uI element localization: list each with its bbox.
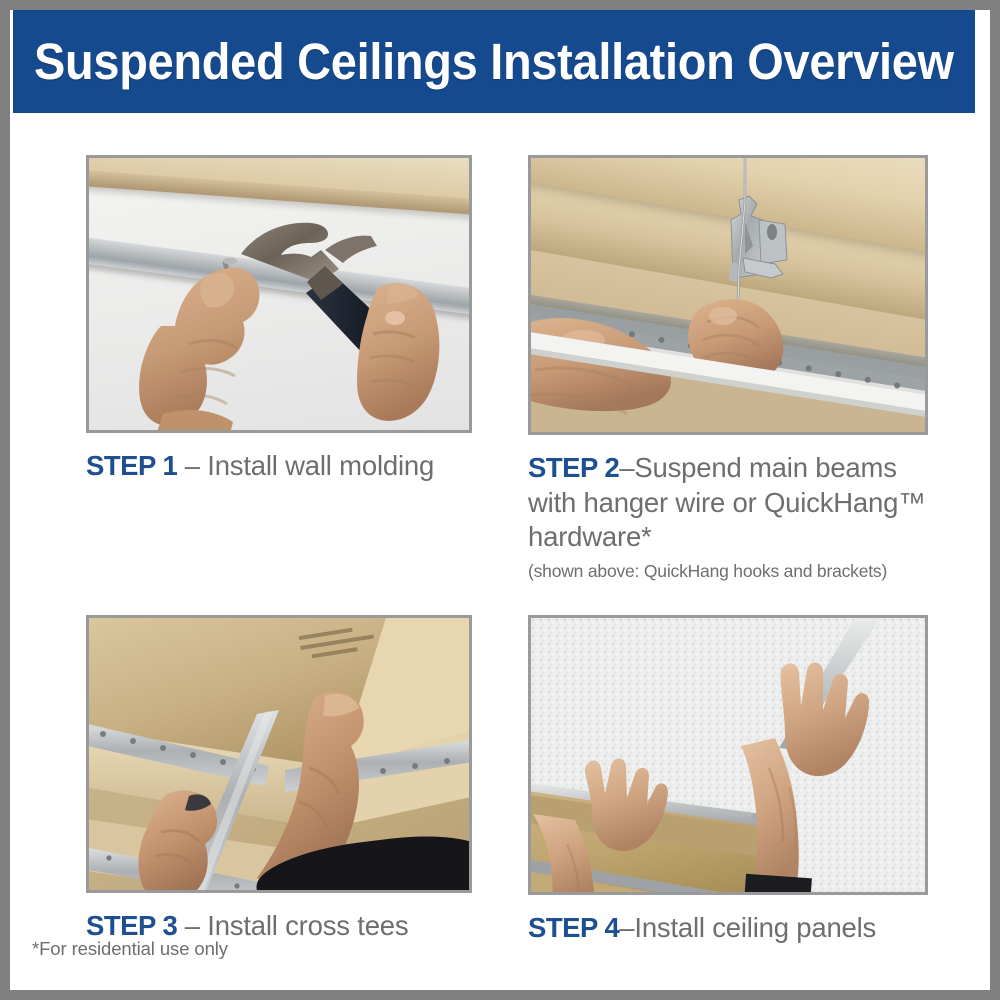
step-3-label: STEP 3 — [86, 910, 177, 941]
header-banner: Suspended Ceilings Installation Overview — [13, 10, 975, 113]
step-2-dash: – — [619, 452, 634, 483]
step-4-photo — [531, 618, 925, 892]
page-title: Suspended Ceilings Installation Overview — [34, 32, 954, 91]
step-card-3: STEP 3 – Install cross tees — [86, 615, 472, 944]
step-2-photo — [531, 158, 925, 432]
step-3-text: Install cross tees — [207, 910, 408, 941]
step-2-note: (shown above: QuickHang hooks and bracke… — [528, 561, 928, 582]
left-hand — [139, 268, 259, 430]
step-4-text: Install ceiling panels — [634, 912, 876, 943]
step-4-dash: – — [619, 912, 634, 943]
right-hand — [357, 283, 439, 421]
step-2-photo-frame — [528, 155, 928, 435]
step-1-photo — [89, 158, 469, 430]
step-card-1: STEP 1 – Install wall molding — [86, 155, 472, 484]
step-4-photo-frame — [528, 615, 928, 895]
step-3-photo — [89, 618, 469, 890]
step-2-photo-figures — [531, 158, 925, 432]
poster-root: Suspended Ceilings Installation Overview — [0, 0, 1000, 1000]
footnote: *For residential use only — [32, 938, 228, 960]
step-2-label: STEP 2 — [528, 452, 619, 483]
step-4-label: STEP 4 — [528, 912, 619, 943]
step-3-photo-frame — [86, 615, 472, 893]
step-1-text: Install wall molding — [207, 450, 434, 481]
step-card-4: STEP 4–Install ceiling panels — [528, 615, 928, 946]
step-3-dash: – — [177, 910, 207, 941]
step-1-photo-frame — [86, 155, 472, 433]
step-card-2: STEP 2–Suspend main beams with hanger wi… — [528, 155, 928, 582]
step-4-photo-figures — [531, 618, 925, 892]
step-1-caption: STEP 1 – Install wall molding — [86, 449, 472, 484]
poster-sheet: Suspended Ceilings Installation Overview — [10, 10, 990, 990]
step-1-photo-figures — [89, 158, 469, 430]
step-1-label: STEP 1 — [86, 450, 177, 481]
step-1-dash: – — [177, 450, 207, 481]
step-4-caption: STEP 4–Install ceiling panels — [528, 911, 928, 946]
step-2-caption: STEP 2–Suspend main beams with hanger wi… — [528, 451, 928, 555]
left-hand — [138, 790, 217, 890]
